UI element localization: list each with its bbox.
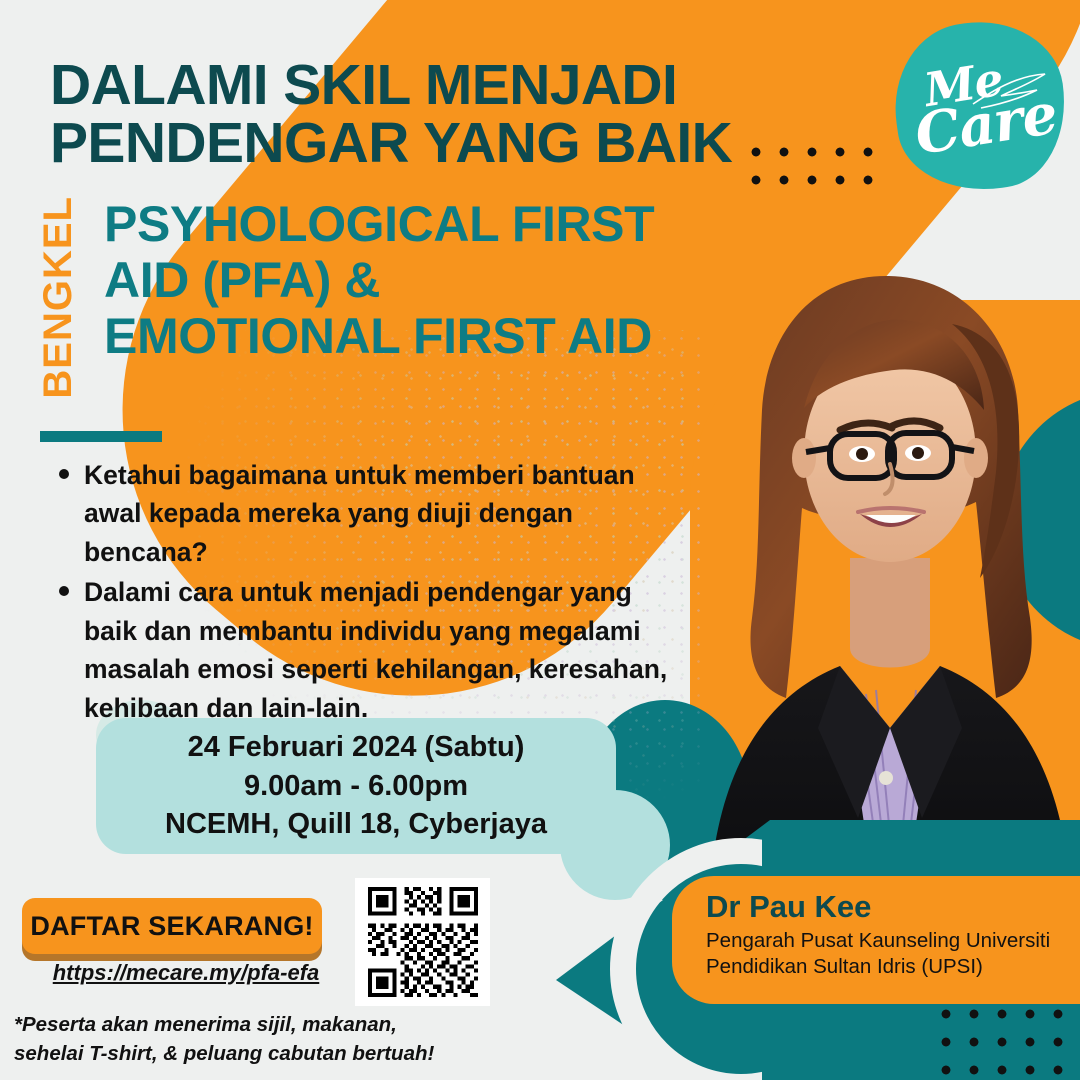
- list-item: Ketahui bagaimana untuk memberi bantuan …: [46, 456, 686, 571]
- speaker-portrait: [690, 258, 1080, 918]
- event-time: 9.00am - 6.00pm: [244, 767, 468, 806]
- benefits-list: Ketahui bagaimana untuk memberi bantuan …: [46, 456, 686, 729]
- dot-grid-bottom: [932, 1000, 1080, 1080]
- speaker-info-panel: Dr Pau Kee Pengarah Pusat Kaunseling Uni…: [672, 876, 1080, 1004]
- registration-link[interactable]: https://mecare.my/pfa-efa: [36, 960, 336, 986]
- qr-code[interactable]: [355, 878, 490, 1006]
- headline-line-1: DALAMI SKIL MENJADI: [50, 56, 750, 114]
- headline-line-2: PENDENGAR YANG BAIK: [50, 114, 750, 172]
- subtitle-line-1: PSYHOLOGICAL FIRST: [104, 196, 744, 252]
- footnote: *Peserta akan menerima sijil, makanan, s…: [14, 1010, 484, 1068]
- subtitle-line-3: EMOTIONAL FIRST AID: [104, 308, 744, 364]
- speaker-role: Pengarah Pusat Kaunseling Universiti Pen…: [706, 928, 1080, 980]
- speaker-name: Dr Pau Kee: [706, 890, 1080, 925]
- event-details-box: 24 Februari 2024 (Sabtu) 9.00am - 6.00pm…: [96, 718, 616, 854]
- subtitle: PSYHOLOGICAL FIRST AID (PFA) & EMOTIONAL…: [104, 196, 744, 364]
- list-item: Dalami cara untuk menjadi pendengar yang…: [46, 573, 686, 727]
- mecare-logo: Me Care: [895, 22, 1065, 190]
- footnote-line-1: *Peserta akan menerima sijil, makanan,: [14, 1010, 484, 1039]
- poster-canvas: Me Care DALAMI SKIL MENJADI PENDENGAR YA…: [0, 0, 1080, 1080]
- subtitle-line-2: AID (PFA) &: [104, 252, 744, 308]
- page-title: DALAMI SKIL MENJADI PENDENGAR YANG BAIK: [50, 56, 750, 172]
- dot-grid-top: [742, 138, 882, 194]
- logo-swoosh-icon: [971, 70, 1049, 110]
- register-button[interactable]: DAFTAR SEKARANG!: [22, 898, 322, 954]
- kicker-bengkel: BENGKEL: [36, 196, 81, 399]
- divider-rule: [40, 431, 162, 442]
- speaker-role-line-2: Pendidikan Sultan Idris (UPSI): [706, 954, 1080, 980]
- speaker-role-line-1: Pengarah Pusat Kaunseling Universiti: [706, 928, 1080, 954]
- event-date: 24 Februari 2024 (Sabtu): [188, 728, 525, 767]
- footnote-line-2: sehelai T-shirt, & peluang cabutan bertu…: [14, 1039, 484, 1068]
- event-venue: NCEMH, Quill 18, Cyberjaya: [165, 805, 547, 844]
